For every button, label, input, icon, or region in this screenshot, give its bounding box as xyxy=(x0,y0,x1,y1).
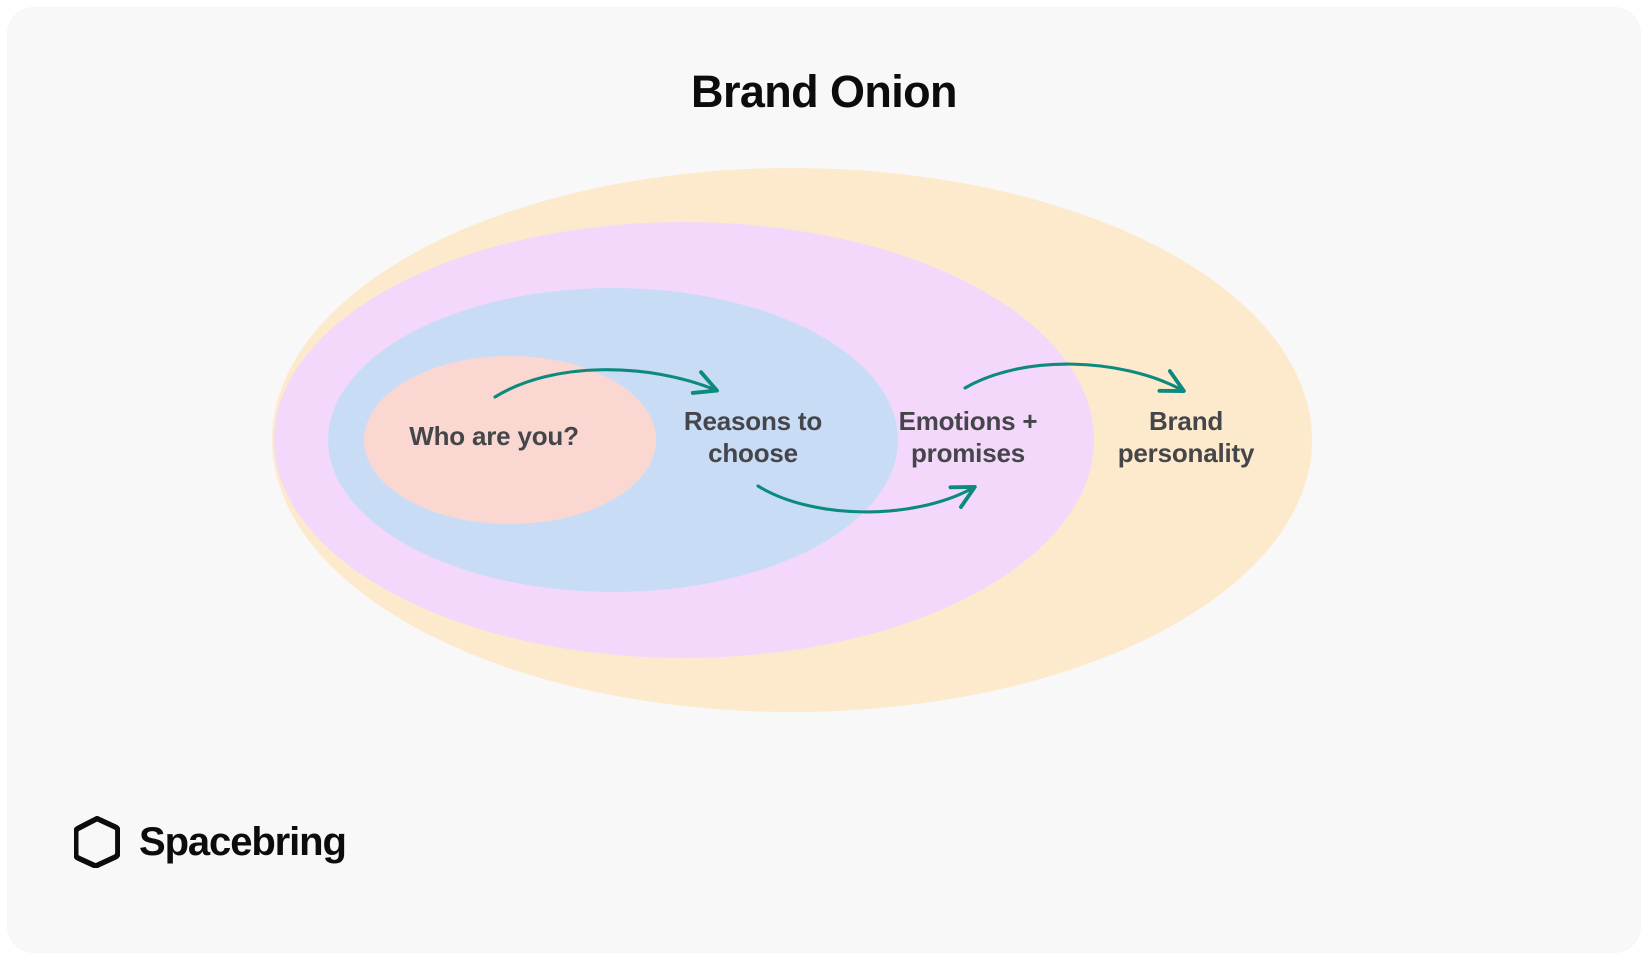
page-title: Brand Onion xyxy=(8,66,1640,118)
ring-label-reasons-to-choose: Reasons to choose xyxy=(633,405,873,469)
ring-label-brand-personality: Brand personality xyxy=(1076,405,1296,469)
ring-label-who-are-you: Who are you? xyxy=(354,420,634,452)
brand-name: Spacebring xyxy=(139,820,346,865)
spacebring-cube-icon xyxy=(74,816,120,868)
brand-footer: Spacebring xyxy=(74,816,346,868)
diagram-card: Brand Onion Who are you? R xyxy=(8,8,1640,952)
ring-label-emotions-promises: Emotions + promises xyxy=(853,405,1083,469)
brand-onion-diagram: Who are you? Reasons to choose Emotions … xyxy=(8,148,1640,758)
